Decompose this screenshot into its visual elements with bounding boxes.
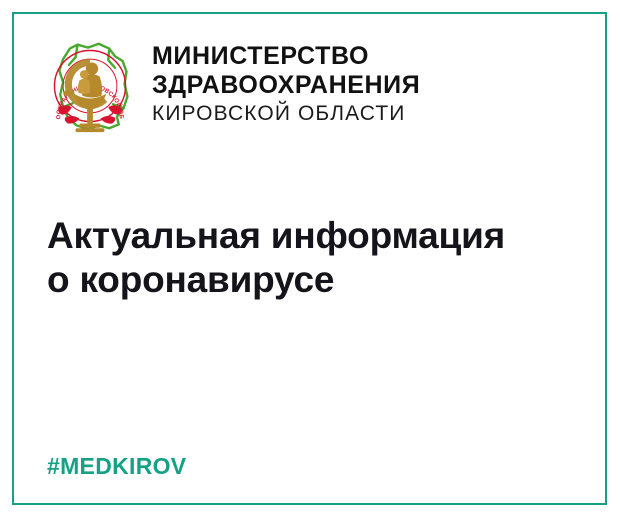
ministry-line-3: КИРОВСКОЙ ОБЛАСТИ — [152, 100, 420, 127]
headline-line-1: Актуальная информация — [47, 214, 547, 258]
ministry-line-2: ЗДРАВООХРАНЕНИЯ — [152, 71, 420, 100]
poster-canvas: ЗДРАВООХРАНЕНИЕ КИРОВСКОЙ ОБЛАСТИ — [0, 0, 620, 517]
ministry-name-block: МИНИСТЕРСТВО ЗДРАВООХРАНЕНИЯ КИРОВСКОЙ О… — [152, 36, 420, 127]
page-title: Актуальная информация о коронавирусе — [47, 214, 547, 302]
ministry-line-1: МИНИСТЕРСТВО — [152, 42, 420, 71]
logo-lockup: ЗДРАВООХРАНЕНИЕ КИРОВСКОЙ ОБЛАСТИ — [42, 36, 420, 136]
headline-line-2: о коронавирусе — [47, 258, 547, 302]
hashtag-medkirov: #MEDKIROV — [47, 453, 186, 480]
ministry-emblem-icon: ЗДРАВООХРАНЕНИЕ КИРОВСКОЙ ОБЛАСТИ — [42, 36, 138, 136]
